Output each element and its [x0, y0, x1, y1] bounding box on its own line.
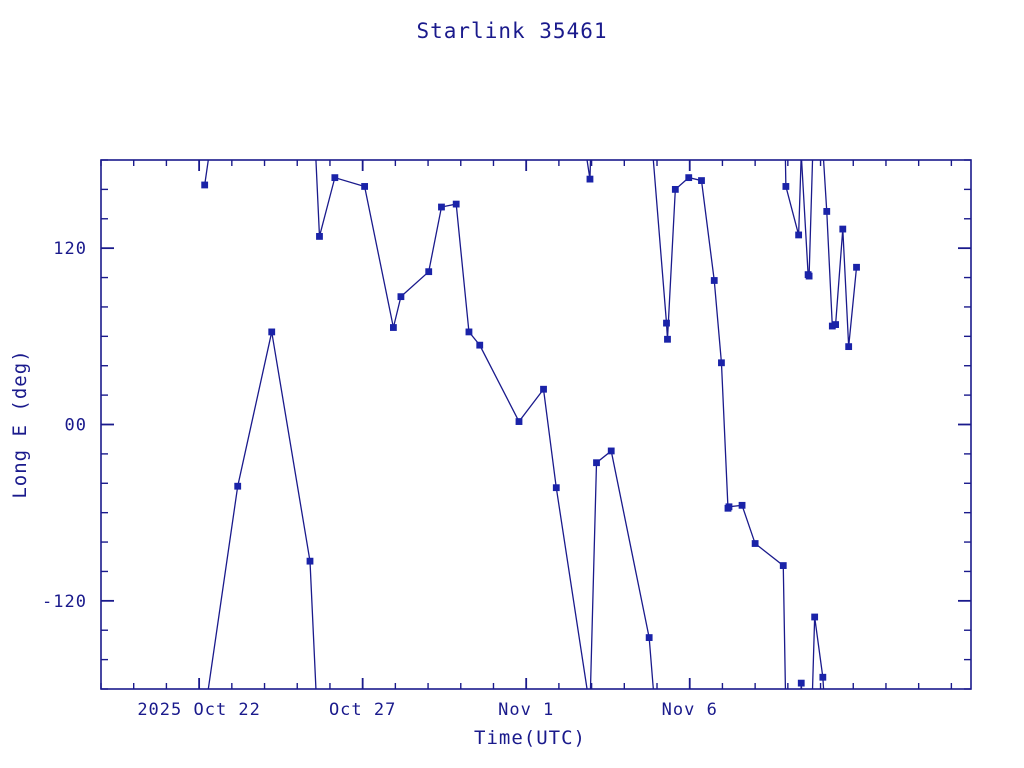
data-series: [202, 160, 860, 689]
data-point-marker: [780, 563, 786, 569]
y-tick-label: 00: [65, 416, 87, 436]
x-tick-label: 2025 Oct 22: [137, 700, 261, 720]
data-point-marker: [798, 680, 804, 686]
y-axis-title: Long E (deg): [9, 349, 31, 498]
series-line: [824, 160, 857, 347]
data-point-marker: [752, 541, 758, 547]
data-point-marker: [854, 264, 860, 270]
data-point-marker: [390, 325, 396, 331]
x-tick-label: Nov 6: [662, 700, 718, 720]
data-point-marker: [840, 226, 846, 232]
series-line: [785, 160, 801, 235]
series-line: [205, 160, 209, 185]
data-point-marker: [846, 344, 852, 350]
data-point-marker: [739, 502, 745, 508]
data-point-marker: [453, 201, 459, 207]
data-point-marker: [438, 204, 444, 210]
chart-figure: Starlink 35461 Long E (deg) Time(UTC) 20…: [0, 0, 1024, 768]
data-point-marker: [783, 183, 789, 189]
data-point-marker: [664, 336, 670, 342]
data-point-marker: [235, 483, 241, 489]
data-point-marker: [711, 277, 717, 283]
data-point-marker: [812, 614, 818, 620]
data-point-marker: [587, 176, 593, 182]
series-line: [590, 451, 653, 689]
series-line: [208, 332, 316, 689]
y-tick-label: -120: [42, 592, 87, 612]
data-point-marker: [806, 273, 812, 279]
plot-axes: [101, 160, 971, 689]
x-tick-label: Nov 1: [498, 700, 554, 720]
y-tick-label: 120: [53, 239, 87, 259]
data-point-marker: [698, 178, 704, 184]
data-point-marker: [686, 175, 692, 181]
chart-title: Starlink 35461: [416, 19, 607, 43]
data-point-marker: [672, 186, 678, 192]
data-point-marker: [664, 320, 670, 326]
data-point-marker: [426, 269, 432, 275]
series-line: [653, 160, 785, 689]
data-point-marker: [646, 635, 652, 641]
data-point-marker: [726, 504, 732, 510]
series-line: [316, 160, 587, 689]
series-line: [802, 160, 813, 276]
data-point-marker: [594, 460, 600, 466]
plot-canvas: Starlink 35461 Long E (deg) Time(UTC) 20…: [0, 0, 1024, 768]
x-axis-title: Time(UTC): [474, 727, 586, 749]
data-point-marker: [398, 294, 404, 300]
data-point-marker: [477, 342, 483, 348]
data-point-marker: [316, 233, 322, 239]
x-tick-label: Oct 27: [329, 700, 396, 720]
data-point-marker: [820, 674, 826, 680]
data-point-marker: [541, 386, 547, 392]
data-point-marker: [202, 182, 208, 188]
data-point-marker: [824, 208, 830, 214]
data-point-marker: [466, 329, 472, 335]
data-point-marker: [833, 322, 839, 328]
data-point-marker: [332, 175, 338, 181]
data-point-marker: [516, 419, 522, 425]
data-point-marker: [307, 558, 313, 564]
data-point-marker: [362, 183, 368, 189]
data-point-marker: [269, 329, 275, 335]
data-point-marker: [553, 485, 559, 491]
data-point-marker: [796, 232, 802, 238]
data-point-marker: [718, 360, 724, 366]
data-point-marker: [608, 448, 614, 454]
